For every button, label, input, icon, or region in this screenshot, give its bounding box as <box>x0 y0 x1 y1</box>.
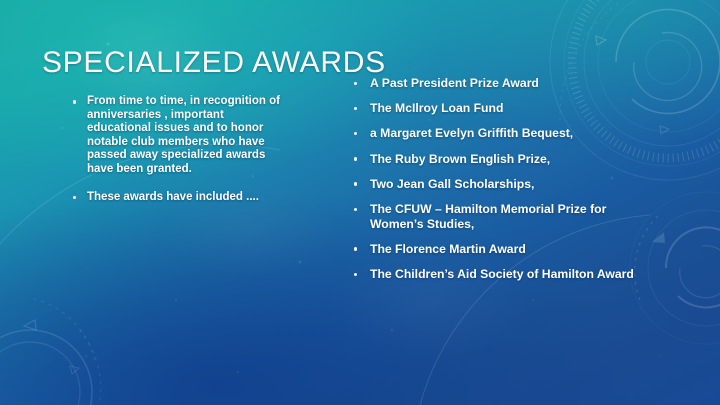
list-item: From time to time, in recognition of ann… <box>66 95 288 177</box>
bullet-dot-icon <box>354 208 357 211</box>
bullet-text: a Margaret Evelyn Griffith Bequest, <box>370 126 573 140</box>
bullet-text: The CFUW – Hamilton Memorial Prize for W… <box>370 202 606 231</box>
bullet-dot-icon <box>354 182 357 185</box>
hud-dial-bottom-right-icon <box>630 192 720 344</box>
bullet-text: A Past President Prize Award <box>370 76 539 90</box>
bullet-text: The McIlroy Loan Fund <box>370 101 503 115</box>
right-bullet-list: A Past President Prize Award The McIlroy… <box>350 76 640 282</box>
hud-dial-bottom-left-icon <box>0 298 101 405</box>
list-item: A Past President Prize Award <box>350 76 640 91</box>
left-content-column: From time to time, in recognition of ann… <box>66 95 288 204</box>
bullet-dot-icon <box>354 107 357 110</box>
presentation-slide: SPECIALIZED AWARDS From time to time, in… <box>0 0 720 405</box>
bullet-text: From time to time, in recognition of ann… <box>87 95 280 175</box>
left-bullet-list: From time to time, in recognition of ann… <box>66 95 288 204</box>
list-item: The Ruby Brown English Prize, <box>350 152 640 167</box>
bullet-text: The Florence Martin Award <box>370 242 526 256</box>
bullet-dot-icon <box>354 132 357 135</box>
list-item: The Florence Martin Award <box>350 242 640 257</box>
bullet-dot-icon <box>354 273 357 276</box>
right-content-column: A Past President Prize Award The McIlroy… <box>350 76 640 282</box>
bullet-dot-icon <box>354 157 357 160</box>
list-item: Two Jean Gall Scholarships, <box>350 177 640 192</box>
list-item: These awards have included .... <box>66 191 288 205</box>
bullet-dot-icon <box>354 82 357 85</box>
list-item: a Margaret Evelyn Griffith Bequest, <box>350 126 640 141</box>
bullet-text: The Ruby Brown English Prize, <box>370 152 550 166</box>
slide-title: SPECIALIZED AWARDS <box>42 46 386 80</box>
list-item: The CFUW – Hamilton Memorial Prize for W… <box>350 202 640 231</box>
list-item: The Children’s Aid Society of Hamilton A… <box>350 267 640 282</box>
bullet-text: The Children’s Aid Society of Hamilton A… <box>370 267 634 281</box>
bullet-dot-icon <box>73 100 76 103</box>
bullet-text: Two Jean Gall Scholarships, <box>370 177 534 191</box>
bullet-text: These awards have included .... <box>87 191 259 203</box>
bullet-dot-icon <box>354 247 357 250</box>
bullet-dot-icon <box>73 196 76 199</box>
list-item: The McIlroy Loan Fund <box>350 101 640 116</box>
